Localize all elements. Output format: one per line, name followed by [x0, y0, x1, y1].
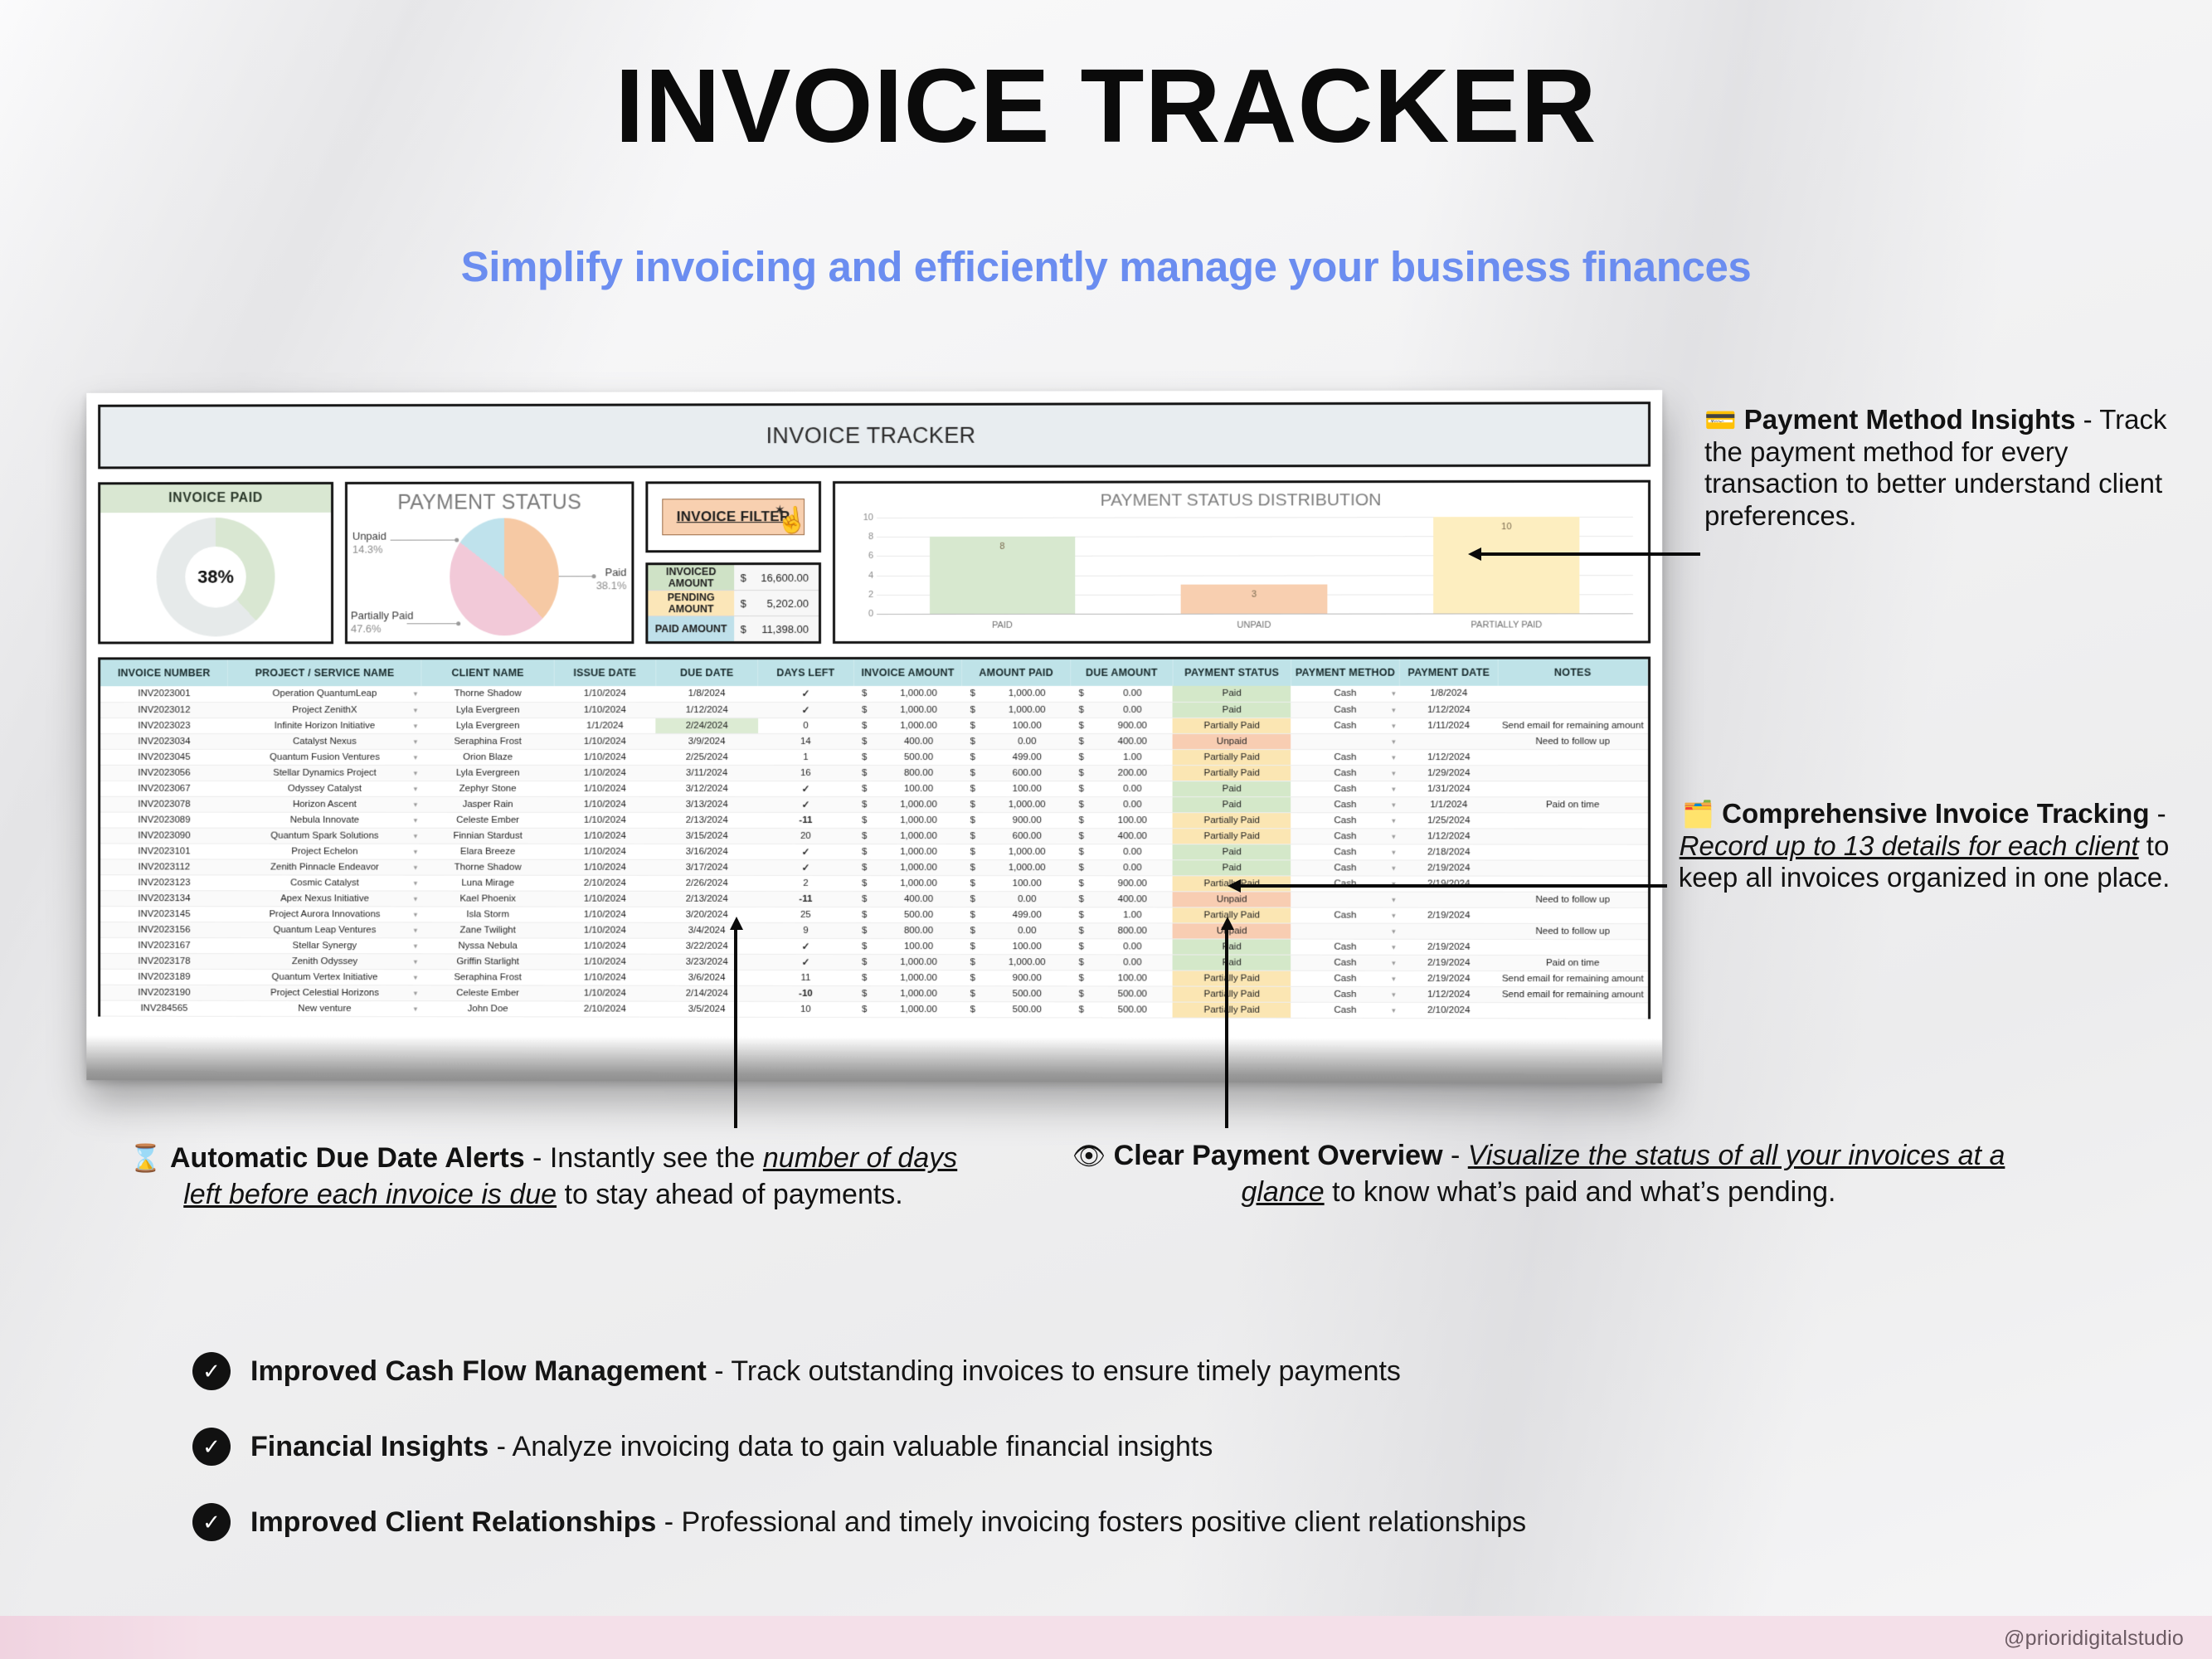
cell-paid-currency: $: [962, 749, 984, 765]
cell-client-name: Lyla Evergreen: [421, 718, 554, 733]
cell-days-left: 14: [758, 733, 854, 749]
cell-notes: Paid on time: [1498, 796, 1648, 812]
x-axis-tick: PAID: [877, 620, 1128, 630]
cell-due-currency: $: [1071, 938, 1092, 954]
total-value-paid: 11,398.00: [752, 616, 819, 641]
cell-invoice-currency: $: [853, 844, 875, 859]
invoice-paid-card: INVOICE PAID 38%: [98, 482, 333, 645]
cell-paid-currency: $: [962, 765, 984, 781]
cell-invoice-number: INV2023090: [100, 828, 228, 844]
cell-payment-date: 2/19/2024: [1400, 907, 1498, 923]
pie-slices: [450, 518, 558, 635]
benefit-title: Financial Insights: [250, 1431, 489, 1462]
cell-days-left: 20: [758, 828, 854, 844]
annotation-payment-overview: 👁 Clear Payment Overview - Visualize the…: [1049, 1138, 2028, 1210]
cell-client-name: Thorne Shadow: [421, 859, 554, 875]
cell-amount-paid: 0.00: [984, 891, 1071, 907]
invoice-table-body: INV2023001Operation QuantumLeapThorne Sh…: [100, 686, 1647, 1019]
pie-label-paid: Paid 38.1%: [596, 566, 627, 592]
cell-amount-paid: 500.00: [984, 1001, 1071, 1017]
cell-due-amount: 0.00: [1092, 844, 1173, 859]
benefit-title: Improved Client Relationships: [250, 1506, 656, 1538]
cell-issue-date: 1/10/2024: [554, 749, 656, 765]
cell-due-date: 2/13/2024: [656, 812, 758, 828]
benefit-text: Improved Cash Flow Management - Track ou…: [250, 1355, 1401, 1388]
cell-due-amount: 100.00: [1092, 812, 1173, 828]
benefit-body: - Professional and timely invoicing fost…: [656, 1506, 1526, 1538]
table-row[interactable]: INV2023112Zenith Pinnacle EndeavorThorne…: [100, 859, 1647, 875]
cell-invoice-number: INV2023012: [100, 702, 228, 718]
cell-payment-date: 2/19/2024: [1400, 939, 1498, 955]
cell-due-currency: $: [1071, 718, 1092, 733]
cell-project-name[interactable]: Project Celestial Horizons: [228, 985, 422, 1000]
cell-payment-method[interactable]: Cash: [1291, 718, 1399, 733]
cell-amount-paid: 900.00: [984, 812, 1071, 828]
cell-invoice-number: INV2023178: [100, 953, 228, 969]
cell-amount-paid: 100.00: [984, 781, 1071, 796]
col-payment-method[interactable]: PAYMENT METHOD: [1291, 659, 1399, 686]
arrow-due-date-alerts: [730, 917, 741, 1128]
pie-leader-partially: [407, 623, 459, 624]
cell-payment-date: 2/19/2024: [1400, 971, 1498, 986]
pie-label-unpaid-text: Unpaid: [352, 530, 386, 543]
cell-due-currency: $: [1071, 970, 1092, 985]
table-row[interactable]: INV2023012Project ZenithXLyla Evergreen1…: [100, 702, 1647, 718]
cell-due-date: 2/24/2024: [656, 718, 758, 733]
cell-invoice-currency: $: [853, 765, 875, 781]
pie-label-unpaid-pct: 14.3%: [352, 543, 383, 556]
cell-invoice-amount: 1,000.00: [875, 1001, 962, 1017]
cell-amount-paid: 0.00: [984, 733, 1071, 749]
cell-amount-paid: 1,000.00: [984, 954, 1071, 970]
hourglass-icon: ⌛: [129, 1143, 163, 1173]
y-axis-tick: 6: [848, 551, 873, 561]
invoice-table: INVOICE NUMBER PROJECT / SERVICE NAME CL…: [100, 659, 1648, 1019]
cell-payment-method[interactable]: Cash: [1291, 828, 1399, 844]
cell-payment-method[interactable]: Cash: [1291, 986, 1399, 1002]
cell-payment-date: 2/10/2024: [1400, 1002, 1498, 1018]
col-invoice-amount[interactable]: INVOICE AMOUNT: [853, 659, 962, 686]
cell-project-name[interactable]: Zenith Odyssey: [228, 953, 422, 969]
cell-due-currency: $: [1071, 1001, 1092, 1017]
y-axis-tick: 4: [848, 571, 873, 581]
col-invoice-number[interactable]: INVOICE NUMBER: [100, 659, 228, 686]
col-notes[interactable]: NOTES: [1498, 659, 1648, 686]
cell-notes: [1498, 686, 1648, 702]
cell-project-name[interactable]: Zenith Pinnacle Endeavor: [228, 859, 422, 874]
cell-payment-method[interactable]: Cash: [1291, 781, 1399, 796]
table-row[interactable]: INV2023101Project EchelonElara Breeze1/1…: [100, 843, 1647, 859]
cell-payment-method[interactable]: Cash: [1291, 971, 1399, 986]
cell-paid-currency: $: [962, 812, 984, 828]
cell-invoice-number: INV2023101: [100, 843, 228, 859]
cell-due-date: 3/12/2024: [656, 781, 758, 796]
cell-paid-currency: $: [962, 970, 984, 985]
cell-due-amount: 0.00: [1092, 859, 1173, 875]
cell-issue-date: 1/10/2024: [554, 969, 656, 985]
cell-due-date: 2/25/2024: [656, 749, 758, 765]
cell-days-left: -11: [758, 891, 854, 907]
cell-days-left: 9: [758, 922, 854, 938]
cell-project-name[interactable]: Project Echelon: [228, 844, 422, 859]
cell-invoice-amount: 1,000.00: [875, 702, 962, 718]
cell-invoice-currency: $: [853, 686, 875, 702]
invoice-filter-card: INVOICE FILTER ✶ ☝: [645, 481, 821, 552]
y-axis-tick: 8: [848, 532, 873, 542]
cell-due-date: 2/13/2024: [656, 891, 758, 907]
cell-project-name[interactable]: Operation QuantumLeap: [228, 686, 422, 702]
cell-payment-date: 1/25/2024: [1400, 812, 1498, 828]
cell-payment-status: Paid: [1173, 844, 1291, 859]
table-row[interactable]: INV2023090Quantum Spark SolutionsFinnian…: [100, 828, 1647, 844]
payment-status-pie-chart: Unpaid 14.3% Paid 38.1% Partially Paid 4…: [348, 514, 631, 640]
cell-paid-currency: $: [962, 796, 984, 812]
benefit-body: - Track outstanding invoices to ensure t…: [707, 1355, 1401, 1387]
cell-project-name[interactable]: Apex Nexus Initiative: [228, 890, 422, 906]
cell-due-date: 3/23/2024: [656, 954, 758, 970]
cell-invoice-currency: $: [853, 938, 875, 954]
cell-payment-method[interactable]: Cash: [1291, 765, 1399, 781]
cell-project-name[interactable]: Catalyst Nexus: [228, 733, 422, 749]
cell-payment-date: 2/18/2024: [1400, 844, 1498, 859]
total-row-paid: PAID AMOUNT $ 11,398.00: [648, 616, 819, 641]
table-row[interactable]: INV2023001Operation QuantumLeapThorne Sh…: [100, 686, 1647, 702]
cell-payment-date: 2/19/2024: [1400, 955, 1498, 971]
cell-issue-date: 1/10/2024: [554, 796, 656, 812]
table-row[interactable]: INV2023056Stellar Dynamics ProjectLyla E…: [100, 765, 1647, 781]
cell-paid-currency: $: [962, 733, 984, 749]
cell-payment-date: 1/12/2024: [1400, 702, 1498, 718]
cell-invoice-amount: 500.00: [875, 749, 962, 765]
cell-amount-paid: 100.00: [984, 718, 1071, 733]
cell-notes: Need to follow up: [1498, 923, 1648, 939]
pie-label-unpaid: Unpaid 14.3%: [352, 530, 386, 557]
cell-payment-date: 1/12/2024: [1400, 749, 1498, 765]
cell-invoice-currency: $: [853, 985, 875, 1001]
cell-project-name[interactable]: Stellar Dynamics Project: [228, 765, 422, 781]
table-row[interactable]: INV2023178Zenith OdysseyGriffin Starligh…: [100, 953, 1647, 971]
cell-days-left: 11: [758, 970, 854, 985]
cell-invoice-number: INV2023167: [100, 937, 228, 953]
cell-payment-date: 1/29/2024: [1400, 765, 1498, 781]
cell-due-date: 3/22/2024: [656, 938, 758, 954]
table-row[interactable]: INV2023167Stellar SynergyNyssa Nebula1/1…: [100, 937, 1647, 955]
cell-issue-date: 1/10/2024: [554, 859, 656, 875]
cell-days-left: ✓: [758, 702, 854, 718]
total-value-pending: 5,202.00: [752, 591, 819, 615]
page-subtitle: Simplify invoicing and efficiently manag…: [0, 242, 2212, 291]
cell-client-name: Luna Mirage: [421, 875, 554, 891]
cell-due-amount: 0.00: [1092, 686, 1173, 702]
col-payment-date[interactable]: PAYMENT DATE: [1400, 659, 1498, 686]
annotation-payment-overview-body: to know what’s paid and what’s pending.: [1325, 1176, 1836, 1208]
cell-due-amount: 0.00: [1092, 781, 1173, 796]
table-row[interactable]: INV2023134Apex Nexus InitiativeKael Phoe…: [100, 890, 1647, 907]
cell-project-name[interactable]: Cosmic Catalyst: [228, 874, 422, 890]
cell-invoice-amount: 500.00: [875, 907, 962, 922]
cell-notes: [1498, 844, 1648, 859]
annotation-payment-method: 💳 Payment Method Insights - Track the pa…: [1704, 404, 2177, 532]
cell-invoice-amount: 1,000.00: [875, 875, 962, 891]
cell-due-currency: $: [1071, 686, 1092, 702]
benefit-item: ✓ Improved Cash Flow Management - Track …: [192, 1352, 2050, 1390]
cell-amount-paid: 1,000.00: [984, 702, 1071, 718]
col-payment-status[interactable]: PAYMENT STATUS: [1173, 659, 1291, 686]
col-client-name[interactable]: CLIENT NAME: [421, 659, 554, 686]
cell-payment-date: 1/12/2024: [1400, 986, 1498, 1002]
cell-due-amount: 0.00: [1092, 954, 1173, 970]
cell-payment-method[interactable]: Cash: [1291, 859, 1399, 875]
watermark: @prioridigitalstudio: [2004, 1627, 2184, 1651]
cell-due-amount: 0.00: [1092, 702, 1173, 718]
annotation-comprehensive-title: Comprehensive Invoice Tracking: [1722, 798, 2149, 829]
cell-paid-currency: $: [962, 859, 984, 875]
cell-invoice-currency: $: [853, 796, 875, 812]
col-issue-date[interactable]: ISSUE DATE: [554, 659, 656, 686]
cell-invoice-currency: $: [853, 749, 875, 765]
cell-due-currency: $: [1071, 749, 1092, 765]
cell-issue-date: 1/10/2024: [554, 844, 656, 859]
col-due-date[interactable]: DUE DATE: [656, 659, 758, 686]
cell-days-left: ✓: [758, 954, 854, 970]
cell-issue-date: 1/10/2024: [554, 922, 656, 938]
cell-invoice-currency: $: [853, 891, 875, 907]
donut-ring: 38%: [157, 518, 275, 637]
pie-leader-unpaid: [391, 540, 457, 541]
cell-due-date: 3/5/2024: [656, 1001, 758, 1017]
cell-project-name[interactable]: Horizon Ascent: [228, 796, 422, 812]
payment-status-pie-title: PAYMENT STATUS: [348, 484, 631, 514]
cell-days-left: 0: [758, 718, 854, 733]
invoice-table-header-row: INVOICE NUMBER PROJECT / SERVICE NAME CL…: [100, 659, 1647, 687]
cell-client-name: John Doe: [421, 1000, 554, 1016]
table-row[interactable]: INV2023145Project Aurora InnovationsIsla…: [100, 906, 1647, 923]
invoice-paid-donut-chart: 38%: [100, 513, 331, 642]
cell-invoice-currency: $: [853, 812, 875, 828]
donut-center-value: 38%: [185, 547, 246, 608]
cell-project-name[interactable]: Project Aurora Innovations: [228, 906, 422, 922]
cell-payment-method[interactable]: [1291, 923, 1399, 939]
arrow-payment-method: [1468, 547, 1700, 559]
cell-invoice-currency: $: [853, 828, 875, 844]
benefit-item: ✓ Improved Client Relationships - Profes…: [192, 1503, 2050, 1541]
cell-due-date: 3/17/2024: [656, 859, 758, 875]
cell-paid-currency: $: [962, 907, 984, 922]
cell-issue-date: 1/10/2024: [554, 812, 656, 828]
cell-due-currency: $: [1071, 844, 1092, 859]
cell-notes: [1498, 907, 1648, 923]
cell-days-left: ✓: [758, 844, 854, 859]
cell-payment-status: Unpaid: [1173, 733, 1291, 749]
cell-invoice-currency: $: [853, 781, 875, 796]
invoice-paid-card-title: INVOICE PAID: [100, 484, 331, 513]
cell-payment-method[interactable]: [1291, 733, 1399, 749]
cell-notes: [1498, 702, 1648, 718]
cell-payment-method[interactable]: [1291, 891, 1399, 907]
pie-label-paid-pct: 38.1%: [596, 580, 627, 592]
cell-paid-currency: $: [962, 828, 984, 844]
cell-due-currency: $: [1071, 875, 1092, 891]
cell-payment-status: Paid: [1173, 781, 1291, 796]
cell-project-name[interactable]: Infinite Horizon Initiative: [228, 718, 422, 733]
cell-notes: Need to follow up: [1498, 733, 1648, 749]
cell-payment-method[interactable]: Cash: [1291, 812, 1399, 828]
table-row[interactable]: INV2023089Nebula InnovateCeleste Ember1/…: [100, 812, 1647, 829]
arrow-payment-overview: [1221, 917, 1232, 1128]
cell-issue-date: 1/10/2024: [554, 938, 656, 954]
sheet-banner: INVOICE TRACKER: [98, 401, 1650, 469]
cell-invoice-number: INV2023067: [100, 781, 228, 796]
cell-project-name[interactable]: Project ZenithX: [228, 702, 422, 718]
table-row[interactable]: INV2023189Quantum Vertex InitiativeSerap…: [100, 969, 1647, 987]
check-circle-icon: ✓: [192, 1352, 231, 1390]
total-value-invoiced: 16,600.00: [752, 565, 819, 590]
cell-due-amount: 400.00: [1092, 733, 1173, 749]
cell-invoice-number: INV2023045: [100, 749, 228, 765]
cell-paid-currency: $: [962, 844, 984, 859]
cell-payment-method[interactable]: Cash: [1291, 907, 1399, 922]
total-row-pending: PENDING AMOUNT $ 5,202.00: [648, 591, 819, 616]
cell-payment-status: Partially Paid: [1173, 718, 1291, 733]
total-label-pending: PENDING AMOUNT: [648, 591, 734, 615]
col-amount-paid[interactable]: AMOUNT PAID: [962, 659, 1071, 686]
table-row[interactable]: INV2023078Horizon AscentJasper Rain1/10/…: [100, 796, 1647, 813]
cell-invoice-currency: $: [853, 922, 875, 938]
check-circle-icon: ✓: [192, 1428, 231, 1466]
payment-status-distribution-title: PAYMENT STATUS DISTRIBUTION: [835, 483, 1648, 511]
cell-project-name[interactable]: Quantum Fusion Ventures: [228, 749, 422, 765]
cell-project-name[interactable]: Quantum Spark Solutions: [228, 828, 422, 844]
cell-project-name[interactable]: Odyssey Catalyst: [228, 781, 422, 796]
cell-payment-method[interactable]: Cash: [1291, 1002, 1399, 1018]
cell-due-currency: $: [1071, 828, 1092, 844]
cell-days-left: ✓: [758, 781, 854, 796]
cell-payment-method[interactable]: Cash: [1291, 939, 1399, 955]
cell-due-amount: 500.00: [1092, 985, 1173, 1001]
card-index-dividers-icon: 🗂️: [1682, 800, 1714, 829]
annotation-payment-overview-title: Clear Payment Overview: [1114, 1140, 1443, 1171]
cell-invoice-currency: $: [853, 970, 875, 985]
table-row[interactable]: INV2023045Quantum Fusion VenturesOrion B…: [100, 749, 1647, 765]
arrow-comprehensive-tracking: [1228, 879, 1667, 891]
annotation-due-date-title: Automatic Due Date Alerts: [170, 1142, 525, 1174]
col-days-left[interactable]: DAYS LEFT: [758, 659, 854, 686]
cell-issue-date: 1/10/2024: [554, 907, 656, 922]
cell-paid-currency: $: [962, 938, 984, 954]
total-currency-pending: $: [734, 591, 752, 615]
cell-amount-paid: 1,000.00: [984, 844, 1071, 859]
cell-payment-status: Paid: [1173, 796, 1291, 812]
table-row[interactable]: INV2023067Odyssey CatalystZephyr Stone1/…: [100, 781, 1647, 797]
spreadsheet-screenshot: INVOICE TRACKER INVOICE PAID 38% PAYMENT…: [86, 390, 1662, 1083]
footer-bar: [0, 1616, 2212, 1659]
cell-issue-date: 1/10/2024: [554, 954, 656, 970]
benefit-body: - Analyze invoicing data to gain valuabl…: [489, 1431, 1213, 1462]
cell-notes: Send email for remaining amount: [1498, 986, 1648, 1002]
cell-project-name[interactable]: New venture: [228, 1000, 422, 1016]
cell-invoice-amount: 100.00: [875, 781, 962, 796]
cell-amount-paid: 100.00: [984, 938, 1071, 954]
pie-label-partially-pct: 47.6%: [351, 622, 382, 635]
cell-payment-date: 1/8/2024: [1400, 686, 1498, 702]
hand-cursor-icon: ☝: [775, 507, 808, 535]
cell-due-currency: $: [1071, 954, 1092, 970]
annotation-payment-method-title: Payment Method Insights: [1744, 404, 2076, 435]
cell-invoice-number: INV2023089: [100, 812, 228, 828]
total-label-paid: PAID AMOUNT: [648, 616, 734, 641]
cell-project-name[interactable]: Quantum Leap Ventures: [228, 922, 422, 937]
cell-issue-date: 1/10/2024: [554, 765, 656, 781]
cell-project-name[interactable]: Nebula Innovate: [228, 812, 422, 828]
cell-due-currency: $: [1071, 796, 1092, 812]
cell-paid-currency: $: [962, 922, 984, 938]
table-row[interactable]: INV2023034Catalyst NexusSeraphina Frost1…: [100, 733, 1647, 749]
cell-days-left: 25: [758, 907, 854, 922]
col-due-amount[interactable]: DUE AMOUNT: [1071, 659, 1173, 686]
cell-issue-date: 1/1/2024: [554, 718, 656, 733]
cell-invoice-amount: 1,000.00: [875, 970, 962, 985]
col-project-service-name[interactable]: PROJECT / SERVICE NAME: [228, 659, 422, 686]
cell-days-left: -10: [758, 985, 854, 1001]
cell-payment-method[interactable]: Cash: [1291, 796, 1399, 812]
cell-due-date: 3/13/2024: [656, 796, 758, 812]
cell-payment-method[interactable]: Cash: [1291, 844, 1399, 859]
cell-payment-method[interactable]: Cash: [1291, 686, 1399, 702]
cell-client-name: Finnian Stardust: [421, 828, 554, 844]
table-row[interactable]: INV284565New ventureJohn Doe2/10/20243/5…: [100, 1000, 1647, 1019]
cell-due-amount: 0.00: [1092, 938, 1173, 954]
cell-payment-method[interactable]: Cash: [1291, 702, 1399, 718]
cell-client-name: Isla Storm: [421, 906, 554, 922]
annotation-due-date-alerts: ⌛ Automatic Due Date Alerts - Instantly …: [116, 1141, 970, 1213]
cell-payment-date: 1/11/2024: [1400, 718, 1498, 733]
cell-due-amount: 200.00: [1092, 765, 1173, 781]
cell-project-name[interactable]: Quantum Vertex Initiative: [228, 969, 422, 985]
cell-invoice-currency: $: [853, 718, 875, 733]
cell-project-name[interactable]: Stellar Synergy: [228, 937, 422, 953]
cell-amount-paid: 0.00: [984, 922, 1071, 938]
annotation-comprehensive-dash: -: [2149, 798, 2166, 829]
cell-notes: Paid on time: [1498, 955, 1648, 971]
bar-chart-plot-area: 02468108PAID3UNPAID10PARTIALLY PAID: [877, 517, 1633, 614]
pie-label-partially-text: Partially Paid: [351, 609, 413, 622]
cell-days-left: 16: [758, 765, 854, 781]
cell-payment-status: Partially Paid: [1173, 765, 1291, 781]
cell-invoice-number: INV284565: [100, 1000, 228, 1016]
cell-payment-status: Paid: [1173, 686, 1291, 702]
cell-due-currency: $: [1071, 891, 1092, 907]
cell-payment-method[interactable]: Cash: [1291, 749, 1399, 765]
cell-due-currency: $: [1071, 922, 1092, 938]
cell-notes: Send email for remaining amount: [1498, 718, 1648, 733]
page-title: INVOICE TRACKER: [0, 51, 2212, 161]
cell-payment-method[interactable]: Cash: [1291, 955, 1399, 971]
table-row[interactable]: INV2023156Quantum Leap VenturesZane Twil…: [100, 922, 1647, 939]
cell-due-currency: $: [1071, 781, 1092, 796]
cell-days-left: ✓: [758, 796, 854, 812]
cell-invoice-number: INV2023023: [100, 718, 228, 733]
cell-invoice-amount: 800.00: [875, 922, 962, 938]
cell-invoice-number: INV2023056: [100, 765, 228, 781]
cell-notes: [1498, 781, 1648, 796]
cell-invoice-number: INV2023001: [100, 686, 228, 702]
cell-client-name: Seraphina Frost: [421, 969, 554, 985]
cell-client-name: Thorne Shadow: [421, 686, 554, 702]
table-row[interactable]: INV2023023Infinite Horizon InitiativeLyl…: [100, 718, 1647, 733]
annotation-comprehensive-emphasis: Record up to 13 details for each client: [1680, 830, 2139, 861]
cell-invoice-number: INV2023189: [100, 969, 228, 985]
cell-days-left: ✓: [758, 938, 854, 954]
